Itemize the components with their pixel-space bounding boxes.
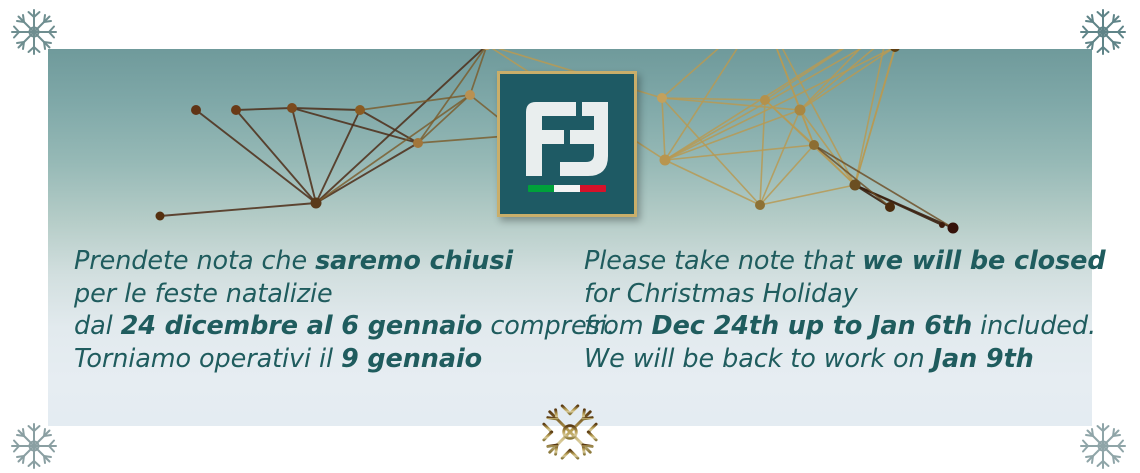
message-line: Torniamo operativi il 9 gennaio — [74, 343, 615, 376]
message-emphasis: 9 gennaio — [341, 344, 482, 374]
message-line: from Dec 24th up to Jan 6th included. — [584, 310, 1106, 343]
company-logo — [497, 71, 637, 217]
message-text: dal — [74, 311, 121, 341]
message-text: per le feste natalizie — [74, 279, 333, 309]
message-text: for Christmas Holiday — [584, 279, 858, 309]
message-text: We will be back to work on — [584, 344, 933, 374]
message-text: from — [584, 311, 652, 341]
message-line: Please take note that we will be closed — [584, 245, 1106, 278]
fj-monogram-icon — [524, 100, 610, 178]
message-emphasis: Jan 9th — [933, 344, 1034, 374]
message-line: Prendete nota che saremo chiusi — [74, 245, 615, 278]
italian-flag-bar — [528, 185, 606, 192]
message-text: included. — [972, 311, 1096, 341]
message-emphasis: we will be closed — [862, 246, 1105, 276]
flag-stripe-green — [528, 185, 554, 192]
promo-banner: Prendete nota che saremo chiusiper le fe… — [0, 0, 1140, 473]
message-english: Please take note that we will be closedf… — [584, 245, 1106, 375]
message-text: Please take note that — [584, 246, 862, 276]
message-emphasis: Dec 24th up to Jan 6th — [652, 311, 973, 341]
message-text: Prendete nota che — [74, 246, 315, 276]
flag-stripe-red — [580, 185, 606, 192]
message-emphasis: 24 dicembre al 6 gennaio — [121, 311, 483, 341]
flag-stripe-white — [554, 185, 580, 192]
message-line: dal 24 dicembre al 6 gennaio compresi. — [74, 310, 615, 343]
message-emphasis: saremo chiusi — [315, 246, 513, 276]
message-line: for Christmas Holiday — [584, 278, 1106, 311]
snowflake-bottom-right-icon — [1077, 420, 1129, 472]
message-line: per le feste natalizie — [74, 278, 615, 311]
message-text: Torniamo operativi il — [74, 344, 341, 374]
snowflake-bottom-left-icon — [8, 420, 60, 472]
message-line: We will be back to work on Jan 9th — [584, 343, 1106, 376]
message-italian: Prendete nota che saremo chiusiper le fe… — [74, 245, 615, 375]
